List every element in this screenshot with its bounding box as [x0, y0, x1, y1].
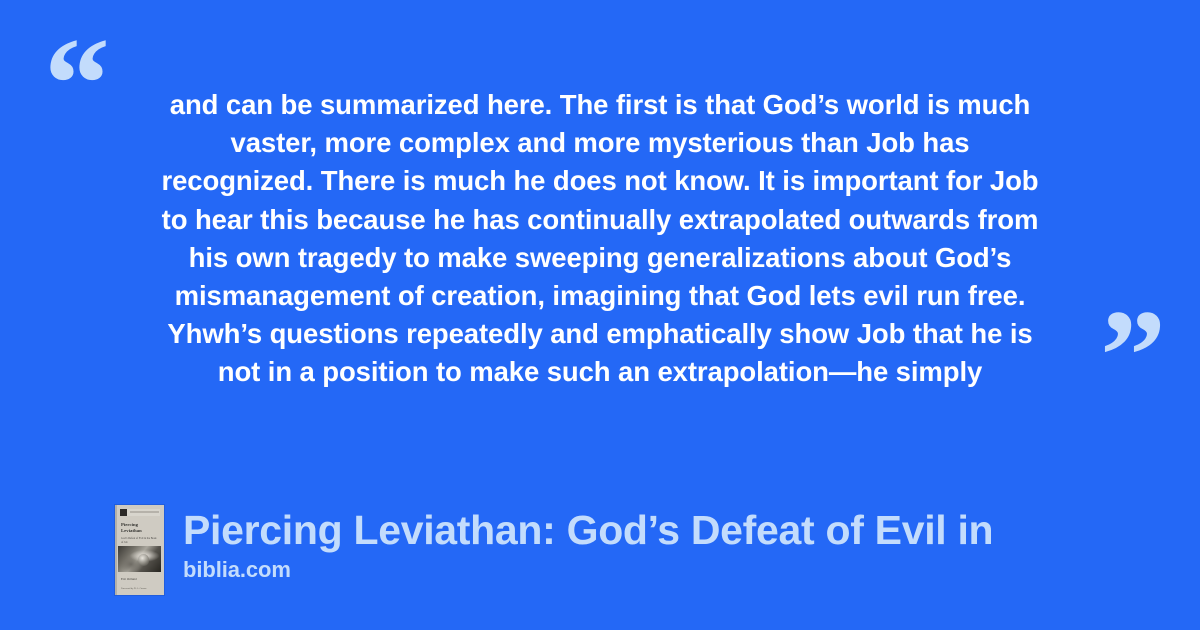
quote-share-card: “ and can be summarized here. The first … [0, 0, 1200, 630]
opening-quotation-mark-icon: “ [44, 18, 110, 150]
book-title[interactable]: Piercing Leviathan: God’s Defeat of Evil… [183, 507, 993, 553]
quote-text: and can be summarized here. The first is… [108, 86, 1092, 392]
site-name[interactable]: biblia.com [183, 557, 993, 583]
publisher-logo-icon [120, 509, 127, 516]
book-cover-series-line [130, 511, 159, 513]
book-cover-subtitle: God’s Defeat of Evil in the Book of Job [121, 537, 159, 544]
source-text-group: Piercing Leviathan: God’s Defeat of Evil… [183, 505, 993, 583]
book-cover-spine [115, 505, 117, 595]
book-cover-author: Eric Ortlund [121, 577, 137, 581]
quote-block: and can be summarized here. The first is… [108, 86, 1092, 392]
book-cover-photo-image [118, 546, 161, 572]
book-cover-foreword: Foreword by D. A. Carson [121, 587, 159, 590]
book-cover-thumbnail[interactable]: Piercing Leviathan God’s Defeat of Evil … [115, 505, 164, 595]
book-cover-title: Piercing Leviathan [121, 522, 159, 534]
closing-quotation-mark-icon: ” [1100, 290, 1166, 422]
source-attribution-footer[interactable]: Piercing Leviathan God’s Defeat of Evil … [115, 505, 993, 595]
